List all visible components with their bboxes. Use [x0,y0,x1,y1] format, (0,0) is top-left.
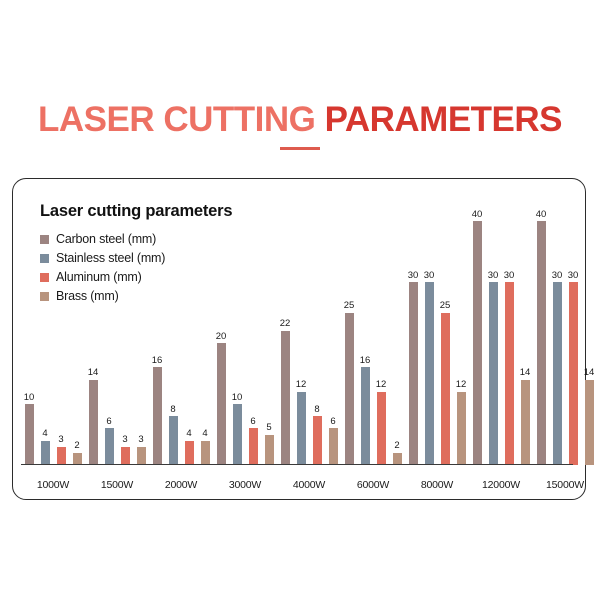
bar-value-label: 6 [250,417,255,427]
bar-slot: 5 [265,209,274,465]
bar[interactable]: 30 [505,282,514,465]
bar-value-label: 3 [138,435,143,445]
bar-slot: 30 [505,209,514,465]
bar-slot: 16 [361,209,370,465]
bar-slot: 2 [393,209,402,465]
bar-group: 2010653000W [213,209,277,465]
chart-plot-area: 104321000W146331500W168442000W2010653000… [19,209,579,465]
bar-group: 4030301412000W [469,209,533,465]
bar[interactable]: 30 [425,282,434,465]
bar-group: 25161226000W [341,209,405,465]
bar-value-label: 12 [376,380,387,390]
bar-slot: 4 [201,209,210,465]
bar-slot: 2 [73,209,82,465]
bar-value-label: 5 [266,423,271,433]
bar-value-label: 12 [456,380,467,390]
bar-slot: 16 [153,209,162,465]
x-axis-tick-label: 4000W [277,479,341,491]
bar-group: 146331500W [85,209,149,465]
bar-slot: 25 [441,209,450,465]
bar-slot: 6 [329,209,338,465]
bar[interactable]: 20 [217,343,226,465]
bar[interactable]: 12 [297,392,306,465]
bar-value-label: 22 [280,319,291,329]
bar-value-label: 12 [296,380,307,390]
bar-slot: 8 [313,209,322,465]
bar-value-label: 2 [74,441,79,451]
bar-group: 4030301415000W [533,209,597,465]
title-underline-rule [280,147,320,150]
bar-value-label: 14 [88,368,99,378]
bar-value-label: 16 [360,356,371,366]
page-title: LASER CUTTING PARAMETERS [0,100,600,140]
page-title-secondary: PARAMETERS [325,100,562,139]
bar[interactable]: 3 [137,447,146,465]
bar-slot: 12 [297,209,306,465]
bar[interactable]: 30 [489,282,498,465]
bar[interactable]: 3 [57,447,66,465]
bar-slot: 20 [217,209,226,465]
bar[interactable]: 14 [89,380,98,465]
bar[interactable]: 12 [457,392,466,465]
bar[interactable]: 10 [233,404,242,465]
bar[interactable]: 12 [377,392,386,465]
bar-value-label: 30 [504,271,515,281]
bar[interactable]: 30 [553,282,562,465]
bar-value-label: 8 [314,405,319,415]
bar[interactable]: 4 [201,441,210,465]
bar-value-label: 20 [216,332,227,342]
bar-slot: 30 [553,209,562,465]
bar-slot: 12 [377,209,386,465]
bar[interactable]: 14 [585,380,594,465]
bar-slot: 4 [41,209,50,465]
bar[interactable]: 6 [329,428,338,465]
bar-group: 168442000W [149,209,213,465]
bar-value-label: 6 [330,417,335,427]
bar-slot: 30 [409,209,418,465]
bar[interactable]: 16 [153,367,162,465]
bar[interactable]: 25 [441,313,450,465]
bar[interactable]: 4 [41,441,50,465]
bar-value-label: 2 [394,441,399,451]
bar[interactable]: 30 [409,282,418,465]
x-axis-tick-label: 1500W [85,479,149,491]
bar-value-label: 40 [472,210,483,220]
bar-slot: 14 [521,209,530,465]
bar-value-label: 30 [568,271,579,281]
bar-value-label: 4 [186,429,191,439]
bar-slot: 3 [57,209,66,465]
bar-slot: 30 [489,209,498,465]
bar-slot: 10 [25,209,34,465]
bar[interactable]: 5 [265,435,274,465]
bar[interactable]: 3 [121,447,130,465]
bar-group: 303025128000W [405,209,469,465]
bar[interactable]: 6 [249,428,258,465]
bar-slot: 3 [121,209,130,465]
x-axis-tick-label: 6000W [341,479,405,491]
bar-slot: 30 [569,209,578,465]
bar-value-label: 16 [152,356,163,366]
bar-slot: 14 [585,209,594,465]
bar-value-label: 30 [408,271,419,281]
x-axis-tick-label: 1000W [21,479,85,491]
bar-group: 2212864000W [277,209,341,465]
bar-value-label: 40 [536,210,547,220]
bar[interactable]: 14 [521,380,530,465]
bar[interactable]: 22 [281,331,290,465]
bar[interactable]: 16 [361,367,370,465]
x-axis-tick-label: 12000W [469,479,533,491]
bar-slot: 6 [105,209,114,465]
chart-card: Laser cutting parameters Carbon steel (m… [12,178,586,500]
bar-value-label: 30 [552,271,563,281]
bar-value-label: 14 [520,368,531,378]
x-axis-tick-label: 15000W [533,479,597,491]
bar[interactable]: 10 [25,404,34,465]
bar-value-label: 3 [122,435,127,445]
bar-slot: 40 [537,209,546,465]
bar-value-label: 8 [170,405,175,415]
bar-value-label: 10 [24,393,35,403]
x-axis-tick-label: 3000W [213,479,277,491]
x-axis-tick-label: 2000W [149,479,213,491]
bar[interactable]: 25 [345,313,354,465]
bar-slot: 30 [425,209,434,465]
bar-slot: 14 [89,209,98,465]
x-axis-line [21,464,573,466]
x-axis-tick-label: 8000W [405,479,469,491]
bar-value-label: 3 [58,435,63,445]
bar-slot: 3 [137,209,146,465]
bar-slot: 4 [185,209,194,465]
bar-slot: 40 [473,209,482,465]
bar-value-label: 25 [344,301,355,311]
bar-slot: 6 [249,209,258,465]
bar[interactable]: 40 [473,221,482,465]
bar-value-label: 6 [106,417,111,427]
bar[interactable]: 6 [105,428,114,465]
bar-value-label: 30 [424,271,435,281]
page-title-primary: LASER CUTTING [38,100,315,139]
bar-slot: 25 [345,209,354,465]
bar-value-label: 14 [584,368,595,378]
bar[interactable]: 8 [313,416,322,465]
bar-slot: 22 [281,209,290,465]
bar-group: 104321000W [21,209,85,465]
bar-slot: 10 [233,209,242,465]
bar[interactable]: 8 [169,416,178,465]
bar-value-label: 4 [42,429,47,439]
bar-group-container: 104321000W146331500W168442000W2010653000… [21,209,573,465]
bar-value-label: 4 [202,429,207,439]
bar-value-label: 30 [488,271,499,281]
bar[interactable]: 40 [537,221,546,465]
bar[interactable]: 4 [185,441,194,465]
bar[interactable]: 30 [569,282,578,465]
bar-value-label: 10 [232,393,243,403]
bar-value-label: 25 [440,301,451,311]
bar-slot: 8 [169,209,178,465]
bar-slot: 12 [457,209,466,465]
